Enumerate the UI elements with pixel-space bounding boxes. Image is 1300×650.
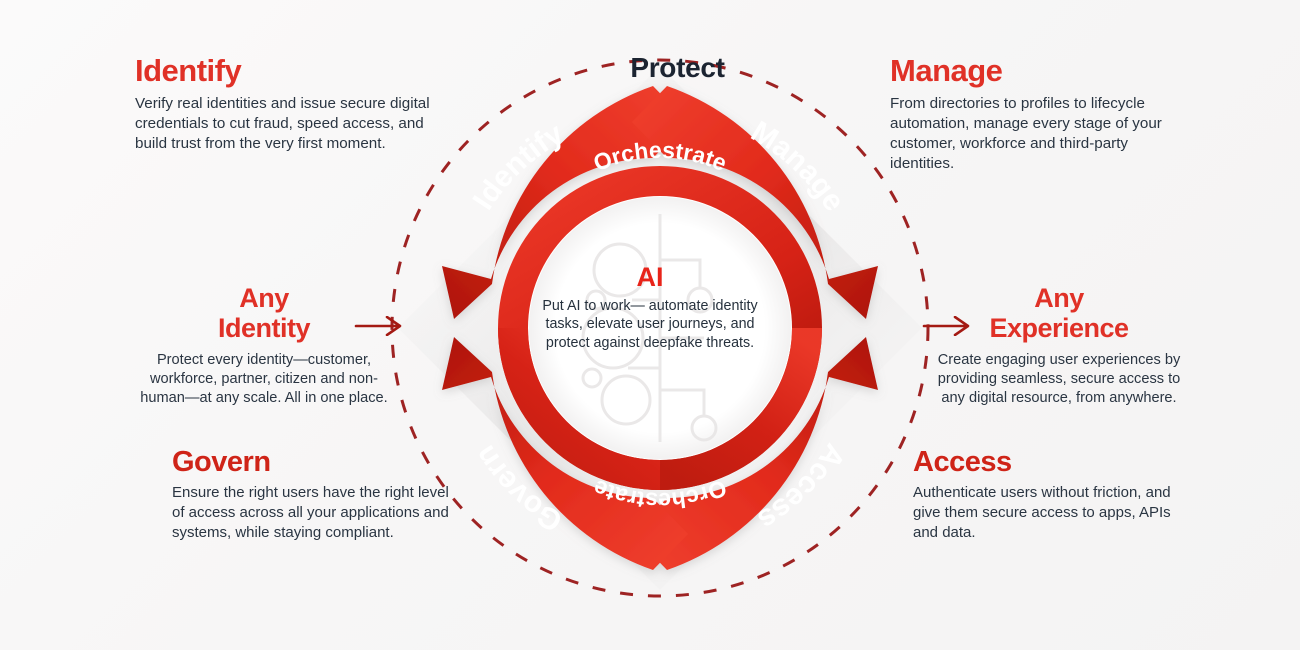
callout-manage-heading: Manage [890, 55, 1190, 88]
arrow-right-icon [354, 316, 406, 336]
callout-identify-heading: Identify [135, 55, 435, 88]
callout-any-experience-body: Create engaging user experiences by prov… [930, 351, 1188, 407]
callout-govern-heading: Govern [172, 447, 462, 477]
callout-identify-body: Verify real identities and issue secure … [135, 94, 435, 155]
callout-any-identity: Any Identity Protect every identity—cust… [128, 283, 400, 408]
callout-manage-body: From directories to profiles to lifecycl… [890, 94, 1190, 175]
callout-govern-body: Ensure the right users have the right le… [172, 483, 462, 543]
callout-manage: Manage From directories to profiles to l… [890, 55, 1190, 174]
callout-govern: Govern Ensure the right users have the r… [172, 447, 462, 543]
callout-any-experience: Any Experience Create engaging user expe… [930, 283, 1188, 408]
callout-access: Access Authenticate users without fricti… [913, 447, 1193, 543]
callout-access-heading: Access [913, 447, 1193, 477]
arrow-right-icon [922, 316, 974, 336]
callout-any-experience-heading-line1: Any [930, 283, 1188, 313]
callout-any-identity-body: Protect every identity—customer, workfor… [128, 351, 400, 407]
callout-access-body: Authenticate users without friction, and… [913, 483, 1193, 543]
diagram-canvas: Identify Manage Access Govern Orchestrat… [0, 0, 1300, 650]
callout-any-identity-heading-line1: Any [128, 283, 400, 313]
callout-identify: Identify Verify real identities and issu… [135, 55, 435, 154]
